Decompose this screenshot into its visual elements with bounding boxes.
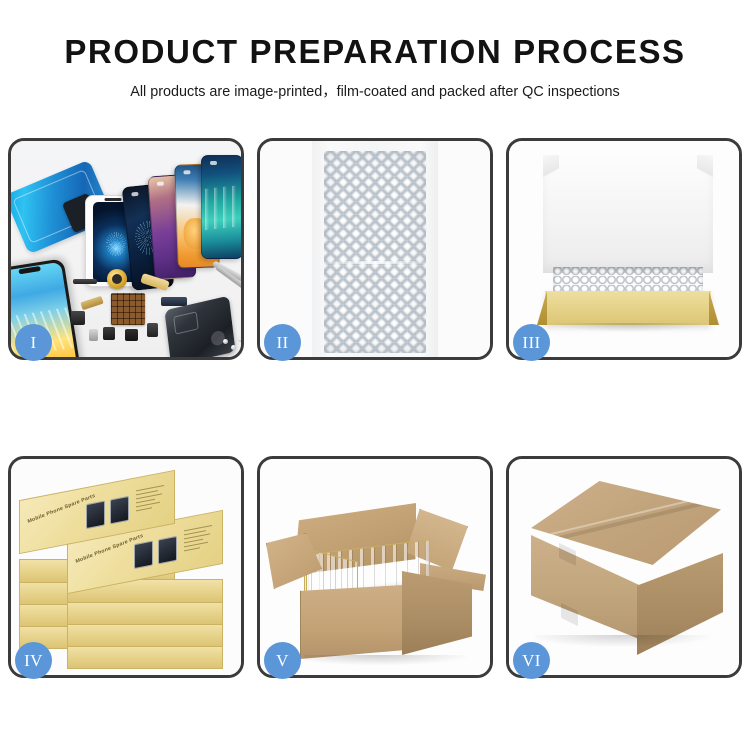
flex-cable-part xyxy=(80,296,103,310)
page-subtitle: All products are image-printed，film-coat… xyxy=(0,80,750,101)
sleeve-seam xyxy=(324,261,426,264)
carton-side-panel xyxy=(402,571,472,655)
small-module-part xyxy=(125,329,138,341)
bubble-wrap-sleeve xyxy=(312,141,438,357)
phone-display-teal xyxy=(201,155,241,259)
infographic-root: PRODUCT PREPARATION PROCESS All products… xyxy=(0,0,750,750)
panel-box-stack: Mobile Phone Spare Parts Mobile Phone Sp… xyxy=(8,456,244,678)
step-badge-6: VI xyxy=(513,642,550,679)
earpiece-mesh-part xyxy=(73,279,97,284)
box-spec-text-lines xyxy=(136,484,170,521)
camera-hole xyxy=(131,192,138,196)
step-badge-4: IV xyxy=(15,642,52,679)
small-module-part xyxy=(89,329,98,341)
step-badge-3: III xyxy=(513,324,550,361)
flex-cable-part xyxy=(161,297,187,306)
box-artwork-phone xyxy=(134,540,153,569)
flex-cable-part xyxy=(140,273,170,291)
panel-products-image xyxy=(11,141,241,357)
camera-hole xyxy=(210,161,217,165)
panel-inner-box-image xyxy=(509,141,739,357)
mailer-box-bubble-fill xyxy=(553,267,703,293)
drop-shadow xyxy=(304,655,468,665)
camera-hole xyxy=(183,170,190,174)
step-badge-5: V xyxy=(264,642,301,679)
drop-shadow xyxy=(549,323,709,332)
small-module-part xyxy=(103,327,115,340)
mailer-box-front-panel xyxy=(545,291,711,325)
panel-bubble-wrap-image xyxy=(260,141,490,357)
retail-box-side xyxy=(67,601,223,625)
box-spec-text-lines xyxy=(184,524,218,561)
header: PRODUCT PREPARATION PROCESS All products… xyxy=(0,0,750,101)
box-artwork-phone xyxy=(86,500,105,529)
carton-front-panel xyxy=(300,585,404,659)
panel-inner-box: III xyxy=(506,138,742,360)
step-badge-1: I xyxy=(15,324,52,361)
retail-box-side xyxy=(67,623,223,647)
mailer-box-lid xyxy=(543,155,713,273)
speaker-coil-part xyxy=(107,269,127,289)
retail-box-side xyxy=(67,645,223,669)
panel-box-stack-image: Mobile Phone Spare Parts Mobile Phone Sp… xyxy=(11,459,241,675)
bubble-wrap-texture xyxy=(324,151,426,353)
process-step-grid: I II III xyxy=(8,138,742,678)
drop-shadow xyxy=(535,635,713,647)
page-title: PRODUCT PREPARATION PROCESS xyxy=(0,33,750,71)
retail-box-stack: Mobile Phone Spare Parts Mobile Phone Sp… xyxy=(11,459,241,675)
box-artwork-phone xyxy=(110,496,129,525)
panel-carton-filled-image xyxy=(260,459,490,675)
panel-carton-sealed: VI xyxy=(506,456,742,678)
step-badge-2: II xyxy=(264,324,301,361)
camera-hole xyxy=(157,181,164,185)
small-module-part xyxy=(147,323,158,337)
panel-carton-sealed-image xyxy=(509,459,739,675)
panel-carton-filled: V xyxy=(257,456,493,678)
box-artwork-phone xyxy=(158,536,177,565)
panel-products: I xyxy=(8,138,244,360)
panel-bubble-wrap: II xyxy=(257,138,493,360)
copper-grid-part xyxy=(111,293,145,325)
screws-group xyxy=(223,337,241,353)
spare-parts-cluster xyxy=(63,265,241,357)
small-module-part xyxy=(71,311,85,325)
